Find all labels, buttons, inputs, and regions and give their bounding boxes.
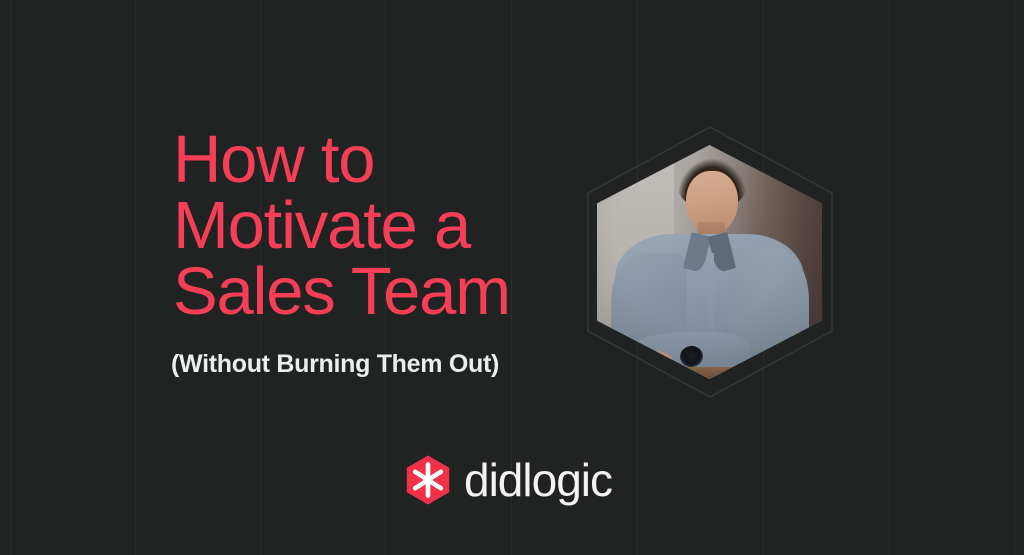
page-title-line-2: Motivate a — [173, 193, 573, 259]
page-title: How to Motivate a Sales Team — [173, 127, 573, 325]
page-subtitle: (Without Burning Them Out) — [171, 349, 499, 379]
page-title-line-3: Sales Team — [173, 259, 573, 325]
grid-line — [135, 0, 136, 555]
page-title-line-1: How to — [173, 127, 573, 193]
brand-wordmark: didlogic — [464, 457, 612, 503]
grid-line — [10, 0, 11, 555]
grid-line — [889, 0, 890, 555]
slide-canvas: How to Motivate a Sales Team (Without Bu… — [0, 0, 1024, 555]
portrait-hexagon — [580, 124, 840, 400]
grid-line — [1014, 0, 1015, 555]
hexagon-asterisk-icon — [406, 455, 450, 505]
brand-logo: didlogic — [406, 455, 612, 505]
